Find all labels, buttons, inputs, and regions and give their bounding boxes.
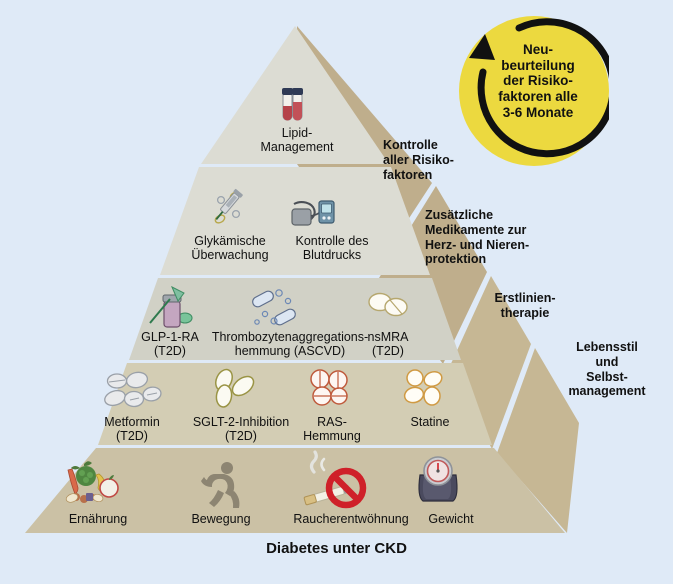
tier-item-glykaemische-ueberwachung: Glykämische Überwachung (175, 234, 285, 263)
item-caption-line: Bewegung (173, 512, 269, 526)
badge-line-4: faktoren alle (477, 89, 599, 105)
item-caption-line: Hemmung (292, 429, 372, 443)
blood-sample-tubes-icon (282, 88, 303, 121)
item-caption-line: Glykämische (175, 234, 285, 248)
badge-line-5: 3-6 Monate (477, 105, 599, 121)
item-caption-line: Blutdrucks (277, 248, 387, 262)
figure-title: Diabetes unter CKD (0, 540, 673, 557)
reassessment-badge[interactable]: Neu- beurteilung der Risiko- faktoren al… (459, 16, 609, 166)
item-caption-line: Metformin (85, 415, 179, 429)
item-caption-line: Management (237, 140, 357, 154)
item-caption-line: (T2D) (178, 429, 304, 443)
badge-line-2: beurteilung (477, 58, 599, 74)
tier-item-glp-1-ra: GLP-1-RA (T2D) (125, 330, 215, 359)
item-caption-line: (T2D) (125, 344, 215, 358)
badge-line-1: Neu- (477, 42, 599, 58)
tier-item-kontrolle-des-blutdrucks: Kontrolle des Blutdrucks (277, 234, 387, 263)
tier-item-ras-hemmung: RAS- Hemmung (292, 415, 372, 444)
tier-item-metformin: Metformin (T2D) (85, 415, 179, 444)
badge-text: Neu- beurteilung der Risiko- faktoren al… (477, 42, 599, 120)
tier-item-raucherentwoehnung: Raucherentwöhnung (276, 512, 426, 526)
badge-line-3: der Risiko- (477, 73, 599, 89)
tier-item-gewicht: Gewicht (408, 512, 494, 526)
item-caption-line: RAS- (292, 415, 372, 429)
tier-item-sglt-2-inhibition: SGLT-2-Inhibition (T2D) (178, 415, 304, 444)
tier-item-ernaehrung: Ernährung (46, 512, 150, 526)
item-caption-line: (T2D) (348, 344, 428, 358)
item-caption-line: Statine (388, 415, 472, 429)
tier-item-statine: Statine (388, 415, 472, 429)
item-caption-line: Raucherentwöhnung (276, 512, 426, 526)
tier-item-lipid-management: Lipid- Management (237, 126, 357, 155)
item-caption-line: (T2D) (85, 429, 179, 443)
item-caption-line: Kontrolle des (277, 234, 387, 248)
item-caption-line: Gewicht (408, 512, 494, 526)
infographic-root: Neu- beurteilung der Risiko- faktoren al… (0, 0, 673, 584)
item-caption-line: Ernährung (46, 512, 150, 526)
item-caption-line: SGLT-2-Inhibition (178, 415, 304, 429)
item-caption-line: GLP-1-RA (125, 330, 215, 344)
item-caption-line: Lipid- (237, 126, 357, 140)
tier-item-bewegung: Bewegung (173, 512, 269, 526)
tier-item-nsmra: nsMRA (T2D) (348, 330, 428, 359)
item-caption-line: Überwachung (175, 248, 285, 262)
item-caption-line: nsMRA (348, 330, 428, 344)
